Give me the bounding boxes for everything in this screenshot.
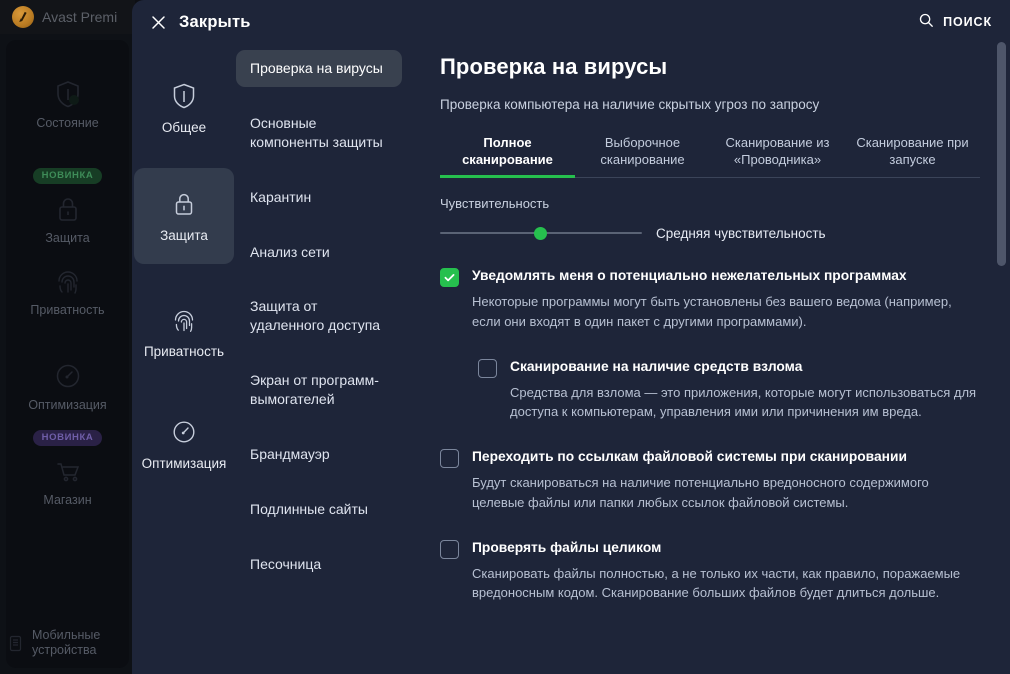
rail-item-optimization[interactable]: Оптимизация bbox=[6, 360, 129, 413]
option-description: Некоторые программы могут быть установле… bbox=[472, 292, 980, 332]
tab-explorer-scan[interactable]: Сканирование из «Проводника» bbox=[710, 134, 845, 178]
tab-boot-time-scan[interactable]: Сканирование при запуске bbox=[845, 134, 980, 178]
dialog-header: Закрыть ПОИСК bbox=[132, 0, 1010, 44]
checkbox-pup-notify[interactable] bbox=[440, 268, 459, 287]
rail-label: Мобильные устройства bbox=[32, 628, 129, 658]
category-protection[interactable]: Защита bbox=[134, 168, 234, 264]
checkbox-follow-links[interactable] bbox=[440, 449, 459, 468]
rail-label: Оптимизация bbox=[28, 398, 106, 413]
checkbox-hacker-tools[interactable] bbox=[478, 359, 497, 378]
category-privacy[interactable]: Приватность bbox=[134, 284, 234, 380]
avast-logo-icon bbox=[12, 6, 34, 28]
nav-item-virus-scan[interactable]: Проверка на вирусы bbox=[236, 50, 402, 87]
option-title: Проверять файлы целиком bbox=[472, 539, 980, 557]
category-optimization[interactable]: Оптимизация bbox=[134, 396, 234, 492]
category-label: Общее bbox=[162, 120, 206, 135]
content-pane: Проверка на вирусы Проверка компьютера н… bbox=[434, 44, 1010, 674]
nav-item-network-inspector[interactable]: Анализ сети bbox=[236, 234, 402, 271]
slider-thumb[interactable] bbox=[534, 227, 547, 240]
scan-type-tabs: Полное сканирование Выборочное сканирова… bbox=[440, 134, 980, 178]
nav-item-core-shields[interactable]: Основные компоненты защиты bbox=[236, 105, 402, 161]
rail-label: Защита bbox=[45, 231, 89, 246]
settings-dialog: Закрыть ПОИСК bbox=[132, 0, 1010, 674]
nav-item-firewall[interactable]: Брандмауэр bbox=[236, 436, 402, 473]
option-description: Сканировать файлы полностью, а не только… bbox=[472, 564, 980, 604]
category-general[interactable]: Общее bbox=[134, 60, 234, 156]
app-titlebar: Avast Premi bbox=[0, 0, 135, 34]
option-row: Переходить по ссылкам файловой системы п… bbox=[440, 448, 980, 512]
rail-label: Состояние bbox=[36, 116, 98, 131]
speedometer-icon bbox=[52, 360, 84, 392]
category-label: Оптимизация bbox=[142, 456, 227, 471]
tab-custom-scan[interactable]: Выборочное сканирование bbox=[575, 134, 710, 178]
option-description: Будут сканироваться на наличие потенциал… bbox=[472, 473, 980, 513]
sensitivity-value: Средняя чувствительность bbox=[656, 226, 826, 241]
background-app-rail: Avast Premi Состояние НОВИНКА bbox=[0, 0, 135, 674]
mobile-device-icon bbox=[6, 634, 25, 653]
badge-new: НОВИНКА bbox=[33, 430, 103, 446]
nav-item-real-site[interactable]: Подлинные сайты bbox=[236, 491, 402, 528]
option-title: Переходить по ссылкам файловой системы п… bbox=[472, 448, 980, 466]
sensitivity-slider[interactable] bbox=[440, 225, 642, 241]
nav-item-ransomware-shield[interactable]: Экран от программ-вымогателей bbox=[236, 362, 402, 418]
sensitivity-row: Средняя чувствительность bbox=[440, 225, 980, 241]
option-description: Средства для взлома — это приложения, ко… bbox=[510, 383, 980, 423]
badge-new: НОВИНКА bbox=[33, 168, 103, 184]
nav-item-quarantine[interactable]: Карантин bbox=[236, 179, 402, 216]
checkbox-whole-files[interactable] bbox=[440, 540, 459, 559]
shopping-cart-icon bbox=[52, 455, 84, 487]
search-icon bbox=[918, 12, 934, 33]
category-label: Защита bbox=[160, 228, 208, 243]
fingerprint-icon bbox=[52, 265, 84, 297]
lock-icon bbox=[52, 193, 84, 225]
shield-check-icon bbox=[52, 78, 84, 110]
close-button[interactable]: Закрыть bbox=[140, 7, 261, 37]
page-title: Проверка на вирусы bbox=[440, 54, 980, 80]
tab-full-scan[interactable]: Полное сканирование bbox=[440, 134, 575, 178]
speedometer-icon bbox=[169, 417, 199, 447]
sensitivity-label: Чувствительность bbox=[440, 196, 980, 211]
close-icon bbox=[150, 14, 167, 31]
shield-icon bbox=[169, 81, 199, 111]
lock-icon bbox=[169, 189, 199, 219]
close-button-label: Закрыть bbox=[179, 13, 251, 32]
option-title: Сканирование на наличие средств взлома bbox=[510, 358, 980, 376]
option-row: Сканирование на наличие средств взлома С… bbox=[478, 358, 980, 422]
nav-item-sandbox[interactable]: Песочница bbox=[236, 546, 402, 583]
rail-item-protection[interactable]: НОВИНКА Защита bbox=[6, 168, 129, 246]
search-button-label: ПОИСК bbox=[943, 15, 992, 29]
page-subtitle: Проверка компьютера на наличие скрытых у… bbox=[440, 97, 980, 112]
rail-item-status[interactable]: Состояние bbox=[6, 78, 129, 131]
option-row: Проверять файлы целиком Сканировать файл… bbox=[440, 539, 980, 603]
rail-item-privacy[interactable]: Приватность bbox=[6, 265, 129, 318]
fingerprint-icon bbox=[169, 305, 199, 335]
option-row: Уведомлять меня о потенциально нежелател… bbox=[440, 267, 980, 331]
category-column: Общее Защита bbox=[134, 44, 234, 674]
app-nav-rail: Состояние НОВИНКА Защита bbox=[6, 40, 129, 668]
settings-nav-list: Проверка на вирусы Основные компоненты з… bbox=[236, 44, 434, 595]
app-window: Avast Premi Состояние НОВИНКА bbox=[0, 0, 1010, 674]
scrollbar-thumb[interactable] bbox=[997, 42, 1006, 266]
rail-label: Приватность bbox=[30, 303, 104, 318]
category-label: Приватность bbox=[144, 344, 224, 359]
rail-item-mobile-devices[interactable]: Мобильные устройства bbox=[6, 628, 129, 658]
app-title: Avast Premi bbox=[42, 9, 117, 25]
rail-label: Магазин bbox=[43, 493, 91, 508]
option-title: Уведомлять меня о потенциально нежелател… bbox=[472, 267, 980, 285]
rail-item-store[interactable]: НОВИНКА Магазин bbox=[6, 430, 129, 508]
nav-item-remote-access-shield[interactable]: Защита от удаленного доступа bbox=[236, 288, 402, 344]
search-button[interactable]: ПОИСК bbox=[918, 9, 992, 35]
